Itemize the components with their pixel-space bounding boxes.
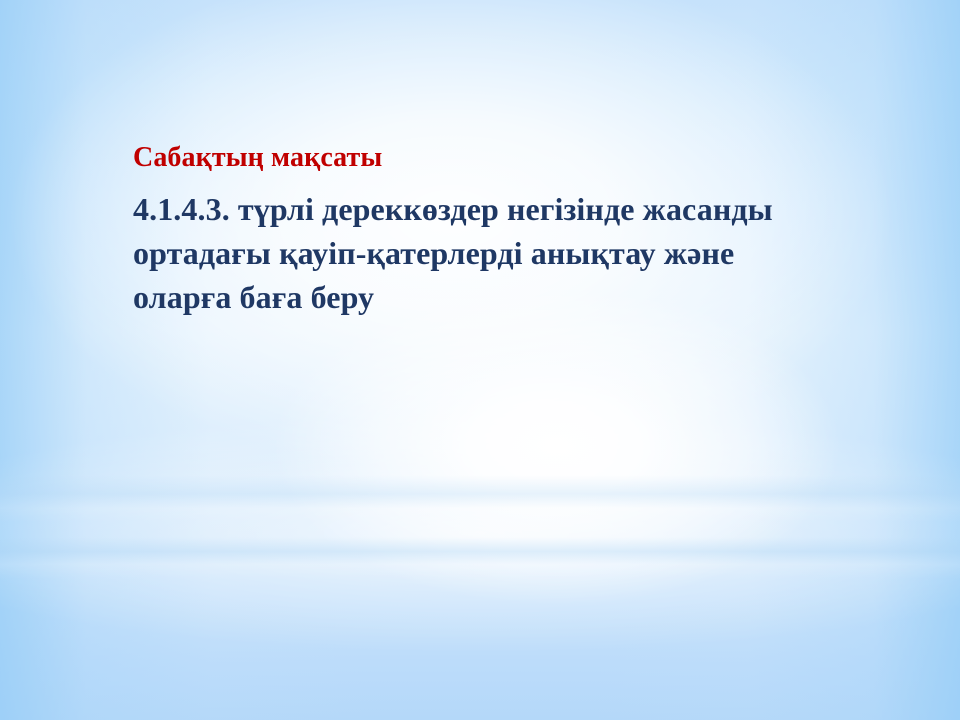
presentation-slide: Сабақтың мақсаты 4.1.4.3. түрлі дереккөз… bbox=[0, 0, 960, 720]
slide-background-base bbox=[0, 0, 960, 720]
lesson-objective-text: 4.1.4.3. түрлі дереккөздер негізінде жас… bbox=[133, 187, 923, 319]
slide-background-glow-upper bbox=[0, 0, 960, 720]
lesson-objective-line-1: 4.1.4.3. түрлі дереккөздер негізінде жас… bbox=[133, 187, 923, 231]
lesson-objective-heading: Сабақтың мақсаты bbox=[133, 138, 923, 178]
slide-background-bands bbox=[0, 0, 960, 720]
slide-background-glow-wide bbox=[0, 0, 960, 720]
slide-text-block: Сабақтың мақсаты 4.1.4.3. түрлі дереккөз… bbox=[133, 138, 923, 319]
slide-background-edges bbox=[0, 0, 960, 720]
lesson-objective-line-2: ортадағы қауіп-қатерлерді анықтау және bbox=[133, 231, 923, 275]
lesson-objective-line-3: оларға баға беру bbox=[133, 275, 923, 319]
slide-background-glow-lower bbox=[0, 0, 960, 720]
